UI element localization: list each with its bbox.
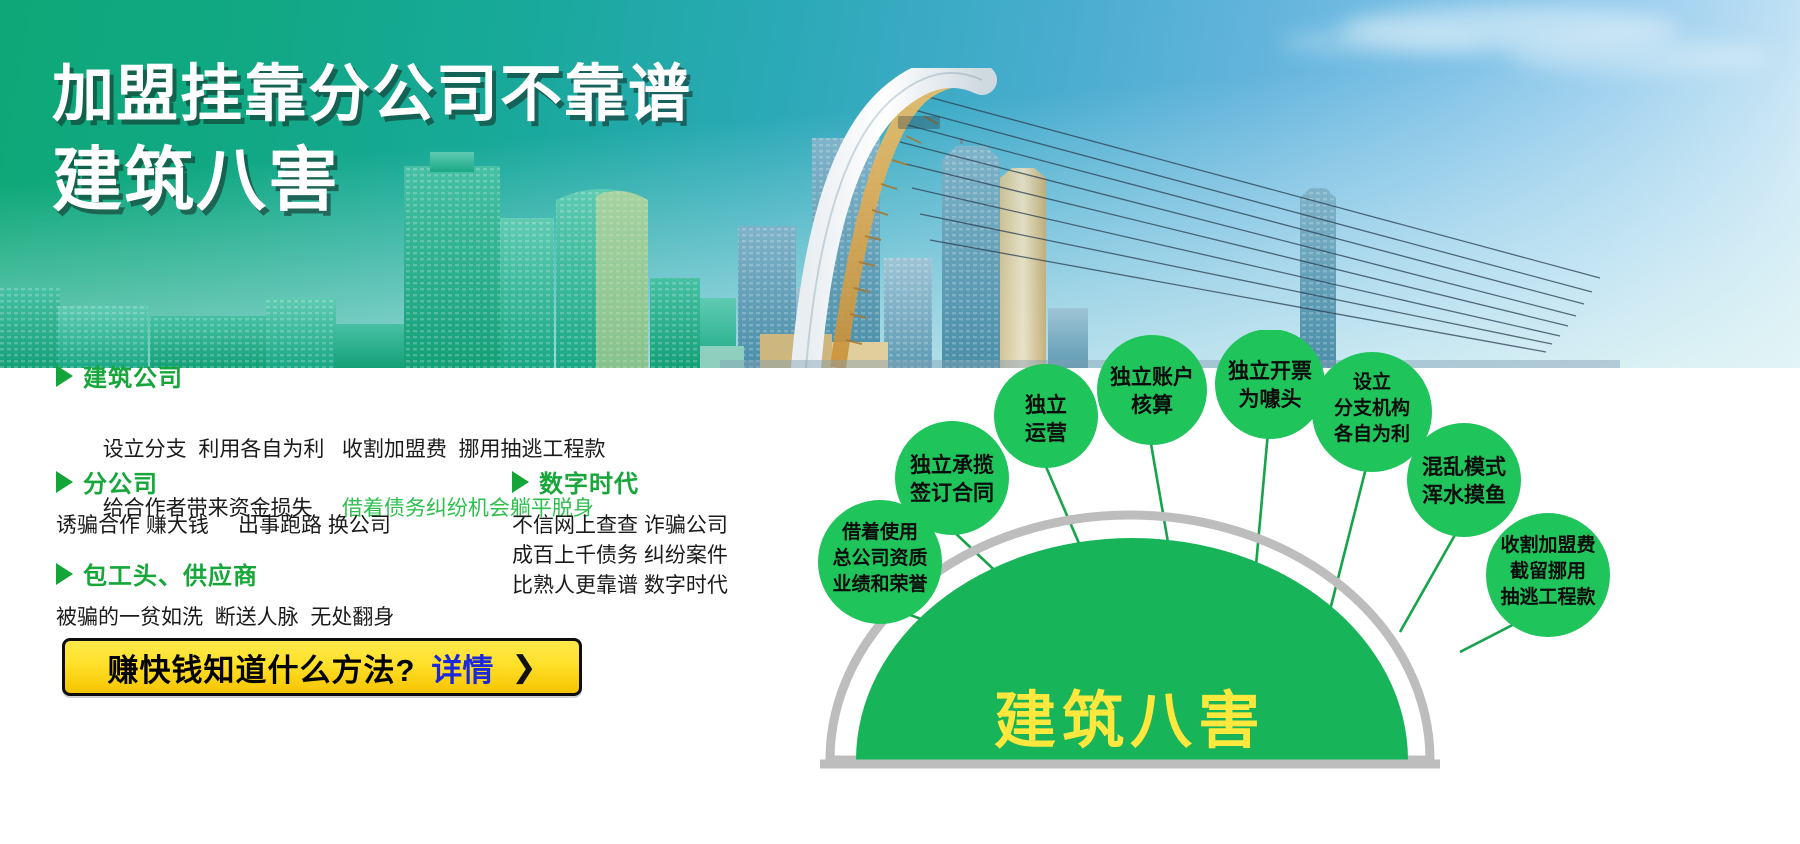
- bubble-b5-line-1: 独立开票: [1228, 359, 1312, 383]
- hero-banner: 加盟挂靠分公司不靠谱 建筑八害: [0, 0, 1800, 368]
- section-title: 建筑公司: [83, 358, 183, 393]
- bubble-b8[interactable]: 收割加盟费 截留挪用 抽逃工程款: [1486, 513, 1610, 637]
- bubble-b4-line-2: 核算: [1131, 393, 1173, 417]
- section-body: 不信网上查查 诈骗公司 成百上千债务 纠纷案件 比熟人更靠谱 数字时代: [512, 511, 728, 600]
- left-content-column: 建筑公司 设立分支 利用各自为利 收割加盟费 挪用抽逃工程款 给合作者带来资金损…: [0, 368, 790, 844]
- cta-label: 赚快钱知道什么方法?: [107, 645, 415, 690]
- title-line-2: 建筑八害: [52, 143, 692, 219]
- bubble-b5-line-2: 为噱头: [1239, 388, 1302, 411]
- bubble-b7-line-1: 混乱模式: [1422, 455, 1506, 479]
- bubble-b8-line-2: 截留挪用: [1510, 559, 1586, 582]
- title-line-1: 加盟挂靠分公司不靠谱: [52, 62, 692, 129]
- bubble-b1-line-3: 业绩和荣誉: [832, 572, 928, 595]
- bubble-b8-line-3: 抽逃工程款: [1500, 585, 1596, 608]
- bridge-svg: [720, 68, 1620, 368]
- section-header: 分公司: [56, 464, 391, 499]
- section-title: 数字时代: [539, 464, 639, 499]
- cta-link-label[interactable]: 详情: [431, 645, 493, 690]
- cloud-shape: [1280, 28, 1480, 56]
- triangle-right-icon: [56, 471, 73, 493]
- bridge-illustration: [720, 68, 1620, 368]
- section-contractor-supplier: 包工头、供应商 被骗的一贫如洗 断送人脉 无处翻身: [56, 556, 394, 633]
- section-body: 诱骗合作 赚大钱 出事跑路 换公司: [56, 511, 391, 541]
- bubble-b7[interactable]: 混乱模式 浑水摸鱼: [1407, 423, 1521, 537]
- page-title: 加盟挂靠分公司不靠谱 建筑八害: [52, 62, 692, 219]
- bubble-b3-line-2: 运营: [1025, 421, 1067, 445]
- bubble-b1-line-1: 借着使用: [841, 520, 918, 543]
- bubble-b6-line-3: 各自为利: [1333, 422, 1410, 445]
- bubble-b2-line-1: 独立承揽: [910, 453, 994, 477]
- section-body: 被骗的一贫如洗 断送人脉 无处翻身: [56, 603, 394, 633]
- bubble-diagram: 建筑八害 借着使用 总公司资质 业绩和荣誉 独立承揽 签订合同 独立 运营: [760, 330, 1800, 844]
- bubble-b3[interactable]: 独立 运营: [994, 364, 1098, 468]
- chevron-right-icon: ❯: [511, 650, 536, 685]
- cta-button[interactable]: 赚快钱知道什么方法? 详情 ❯: [62, 638, 582, 696]
- section-title: 分公司: [83, 464, 158, 499]
- section-digital-era: 数字时代 不信网上查查 诈骗公司 成百上千债务 纠纷案件 比熟人更靠谱 数字时代: [512, 464, 728, 600]
- bubble-b7-line-2: 浑水摸鱼: [1422, 483, 1506, 507]
- bubble-b8-line-1: 收割加盟费: [1500, 533, 1595, 556]
- triangle-right-icon: [512, 471, 529, 493]
- diagram-svg: 建筑八害 借着使用 总公司资质 业绩和荣誉 独立承揽 签订合同 独立 运营: [760, 330, 1800, 844]
- section-title: 包工头、供应商: [83, 556, 258, 591]
- bubble-b6-line-1: 设立: [1353, 370, 1391, 393]
- section-header: 包工头、供应商: [56, 556, 394, 591]
- bubble-b4-line-1: 独立账户: [1110, 365, 1194, 389]
- bubble-b4[interactable]: 独立账户 核算: [1097, 335, 1207, 445]
- section-branch-company: 分公司 诱骗合作 赚大钱 出事跑路 换公司: [56, 464, 391, 541]
- bubble-b3-line-1: 独立: [1025, 393, 1067, 417]
- triangle-right-icon: [56, 365, 73, 387]
- section-header: 数字时代: [512, 464, 728, 499]
- bubble-b2-line-2: 签订合同: [909, 481, 994, 505]
- bubble-b2[interactable]: 独立承揽 签订合同: [895, 421, 1009, 535]
- section-header: 建筑公司: [56, 358, 606, 393]
- dome-label: 建筑八害: [994, 687, 1266, 756]
- bubble-b6-line-2: 分支机构: [1334, 396, 1410, 419]
- section-line-1: 设立分支 利用各自为利 收割加盟费 挪用抽逃工程款: [103, 438, 606, 461]
- poster-root: 加盟挂靠分公司不靠谱 建筑八害 建筑公司 设立分支 利用各自为利 收割加盟费 挪…: [0, 0, 1800, 844]
- triangle-right-icon: [56, 563, 73, 585]
- bubble-b1-line-2: 总公司资质: [832, 546, 927, 569]
- bubble-b5[interactable]: 独立开票 为噱头: [1215, 330, 1325, 439]
